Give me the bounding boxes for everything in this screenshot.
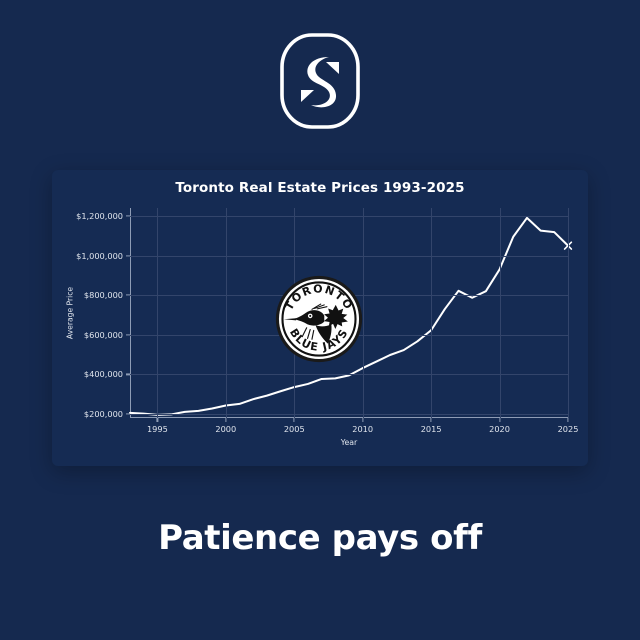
y-axis-tick-label: $400,000 bbox=[84, 369, 123, 379]
x-axis-tick-mark bbox=[567, 418, 568, 422]
x-axis-tick-mark bbox=[499, 418, 500, 422]
gridline-horizontal bbox=[130, 256, 568, 257]
y-axis-label: Average Price bbox=[66, 287, 75, 339]
x-axis-tick-label: 2015 bbox=[421, 424, 442, 434]
gridline-vertical bbox=[431, 208, 432, 418]
tagline-text: Patience pays off bbox=[0, 518, 640, 558]
gridline-vertical bbox=[226, 208, 227, 418]
y-axis-tick-mark bbox=[126, 255, 130, 256]
x-axis-tick-mark bbox=[157, 418, 158, 422]
y-axis-tick-label: $600,000 bbox=[84, 330, 123, 340]
y-axis-tick-mark bbox=[126, 334, 130, 335]
y-axis-tick-mark bbox=[126, 374, 130, 375]
x-axis-tick-mark bbox=[431, 418, 432, 422]
x-axis-tick-label: 2025 bbox=[558, 424, 579, 434]
y-axis-tick-mark bbox=[126, 413, 130, 414]
toronto-blue-jays-logo-icon: TORONTO BLUE JAYS bbox=[275, 275, 363, 363]
x-axis-tick-label: 2000 bbox=[215, 424, 236, 434]
gridline-horizontal bbox=[130, 216, 568, 217]
x-axis-tick-label: 2020 bbox=[489, 424, 510, 434]
x-axis-tick-mark bbox=[225, 418, 226, 422]
gridline-horizontal bbox=[130, 414, 568, 415]
gridline-vertical bbox=[500, 208, 501, 418]
brand-logo bbox=[279, 32, 361, 130]
x-axis-tick-label: 2010 bbox=[352, 424, 373, 434]
y-axis-tick-label: $1,200,000 bbox=[76, 211, 123, 221]
gridline-vertical bbox=[157, 208, 158, 418]
x-axis-tick-mark bbox=[362, 418, 363, 422]
x-axis-tick-mark bbox=[294, 418, 295, 422]
y-axis-tick-mark bbox=[126, 215, 130, 216]
y-axis-tick-mark bbox=[126, 295, 130, 296]
y-axis-tick-label: $1,000,000 bbox=[76, 251, 123, 261]
x-axis-tick-label: 2005 bbox=[284, 424, 305, 434]
x-axis-tick-label: 1995 bbox=[147, 424, 168, 434]
x-axis-label: Year bbox=[130, 438, 568, 447]
y-axis-tick-label: $200,000 bbox=[84, 409, 123, 419]
gridline-horizontal bbox=[130, 374, 568, 375]
gridline-vertical bbox=[568, 208, 569, 418]
y-axis-tick-label: $800,000 bbox=[84, 290, 123, 300]
chart-title: Toronto Real Estate Prices 1993-2025 bbox=[52, 180, 588, 196]
